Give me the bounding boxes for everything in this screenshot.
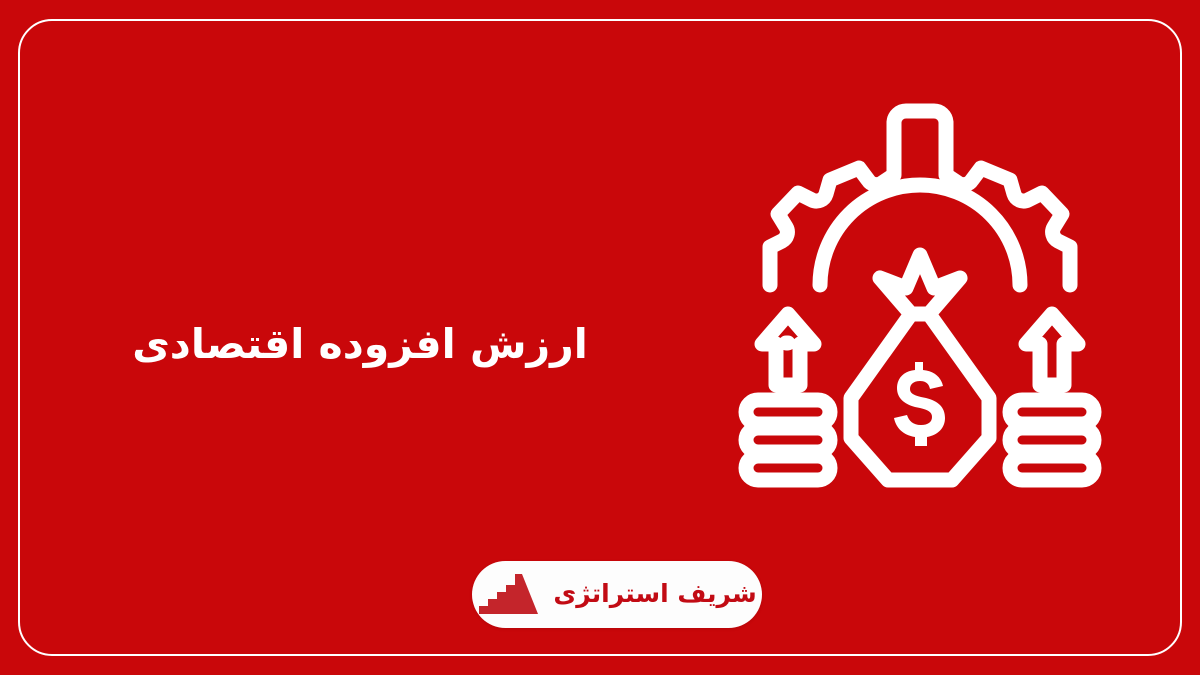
arrow-up-right-icon [1026,314,1078,385]
coin-stack-right-icon [1010,400,1094,480]
brand-badge-label: شریف استراتژی [553,581,756,609]
stepped-mountain-logo [477,572,539,618]
slide-canvas: ارزش افزوده اقتصادی [0,0,1200,675]
dollar-sign-icon [894,362,945,446]
page-title: ارزش افزوده اقتصادی [60,300,660,390]
coin-stack-left-icon [746,400,830,480]
arrow-up-left-icon [762,314,814,385]
page-title-text: ارزش افزوده اقتصادی [132,316,588,373]
economic-value-added-icon [720,80,1120,500]
brand-badge[interactable]: شریف استراتژی [472,561,762,628]
